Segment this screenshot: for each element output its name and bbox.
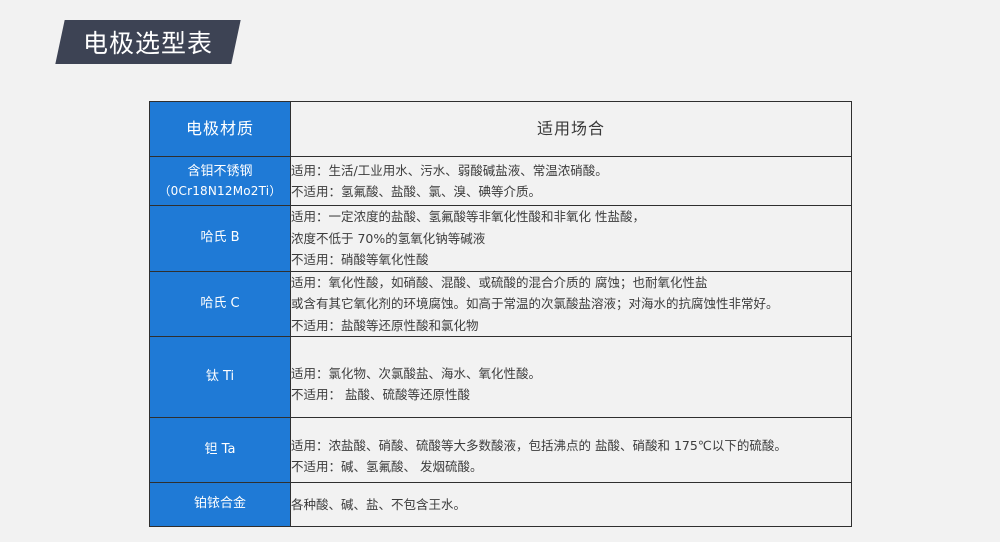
electrode-selection-table: 电极材质 适用场合 含钼不锈钢 （0Cr18N12Mo2Ti） 适用：生活/工业… <box>149 101 852 527</box>
material-name: 哈氏 B <box>200 230 239 245</box>
application-line: 或含有其它氧化剂的环境腐蚀。如高于常温的次氯酸盐溶液；对海水的抗腐蚀性非常好。 <box>291 293 851 315</box>
material-name: 铂铱合金 <box>194 496 246 511</box>
material-cell: 哈氏 C <box>150 271 291 337</box>
table-header-row: 电极材质 适用场合 <box>150 102 852 157</box>
application-cell: 适用：生活/工业用水、污水、弱酸碱盐液、常温浓硝酸。 不适用：氢氟酸、盐酸、氯、… <box>291 157 852 206</box>
application-cell: 适用：浓盐酸、硝酸、硫酸等大多数酸液，包括沸点的 盐酸、硝酸和 175℃以下的硫… <box>291 418 852 483</box>
material-cell: 含钼不锈钢 （0Cr18N12Mo2Ti） <box>150 157 291 206</box>
application-cell: 各种酸、碱、盐、不包含王水。 <box>291 483 852 527</box>
application-line: 适用：一定浓度的盐酸、氢氟酸等非氧化性酸和非氧化 性盐酸， <box>291 206 851 228</box>
material-cell: 铂铱合金 <box>150 483 291 527</box>
table-row: 钛 Ti 适用：氯化物、次氯酸盐、海水、氧化性酸。 不适用： 盐酸、硫酸等还原性… <box>150 337 852 418</box>
page-title-banner: 电极选型表 <box>60 20 240 66</box>
table-row: 含钼不锈钢 （0Cr18N12Mo2Ti） 适用：生活/工业用水、污水、弱酸碱盐… <box>150 157 852 206</box>
application-line: 适用：氧化性酸，如硝酸、混酸、或硫酸的混合介质的 腐蚀；也耐氧化性盐 <box>291 272 851 294</box>
application-line: 适用：氯化物、次氯酸盐、海水、氧化性酸。 <box>291 363 851 385</box>
application-line: 不适用：碱、氢氟酸、 发烟硫酸。 <box>291 456 851 478</box>
application-cell: 适用：氯化物、次氯酸盐、海水、氧化性酸。 不适用： 盐酸、硫酸等还原性酸 <box>291 337 852 418</box>
application-line: 不适用：氢氟酸、盐酸、氯、溴、碘等介质。 <box>291 181 851 203</box>
material-cell: 钽 Ta <box>150 418 291 483</box>
application-cell: 适用：一定浓度的盐酸、氢氟酸等非氧化性酸和非氧化 性盐酸， 浓度不低于 70%的… <box>291 206 852 272</box>
application-cell: 适用：氧化性酸，如硝酸、混酸、或硫酸的混合介质的 腐蚀；也耐氧化性盐 或含有其它… <box>291 271 852 337</box>
application-line: 浓度不低于 70%的氢氧化钠等碱液 <box>291 228 851 250</box>
application-line: 适用：浓盐酸、硝酸、硫酸等大多数酸液，包括沸点的 盐酸、硝酸和 175℃以下的硫… <box>291 435 851 457</box>
table-row: 哈氏 C 适用：氧化性酸，如硝酸、混酸、或硫酸的混合介质的 腐蚀；也耐氧化性盐 … <box>150 271 852 337</box>
material-grade: （0Cr18N12Mo2Ti） <box>150 182 290 201</box>
column-header-material: 电极材质 <box>150 102 291 157</box>
table-row: 哈氏 B 适用：一定浓度的盐酸、氢氟酸等非氧化性酸和非氧化 性盐酸， 浓度不低于… <box>150 206 852 272</box>
application-line: 适用：生活/工业用水、污水、弱酸碱盐液、常温浓硝酸。 <box>291 160 851 182</box>
electrode-selection-table-wrapper: 电极材质 适用场合 含钼不锈钢 （0Cr18N12Mo2Ti） 适用：生活/工业… <box>149 101 851 527</box>
material-cell: 钛 Ti <box>150 337 291 418</box>
material-name: 钽 Ta <box>205 442 236 457</box>
material-name: 含钼不锈钢 <box>187 164 252 179</box>
table-row: 钽 Ta 适用：浓盐酸、硝酸、硫酸等大多数酸液，包括沸点的 盐酸、硝酸和 175… <box>150 418 852 483</box>
table-body: 电极材质 适用场合 含钼不锈钢 （0Cr18N12Mo2Ti） 适用：生活/工业… <box>150 102 852 527</box>
material-cell: 哈氏 B <box>150 206 291 272</box>
material-name: 钛 Ti <box>206 369 234 384</box>
application-line: 各种酸、碱、盐、不包含王水。 <box>291 494 851 516</box>
column-header-application: 适用场合 <box>291 102 852 157</box>
application-line: 不适用：硝酸等氧化性酸 <box>291 249 851 271</box>
page-title: 电极选型表 <box>60 20 236 64</box>
application-line: 不适用： 盐酸、硫酸等还原性酸 <box>291 384 851 406</box>
application-line: 不适用：盐酸等还原性酸和氯化物 <box>291 315 851 337</box>
material-name: 哈氏 C <box>200 296 239 311</box>
table-row: 铂铱合金 各种酸、碱、盐、不包含王水。 <box>150 483 852 527</box>
